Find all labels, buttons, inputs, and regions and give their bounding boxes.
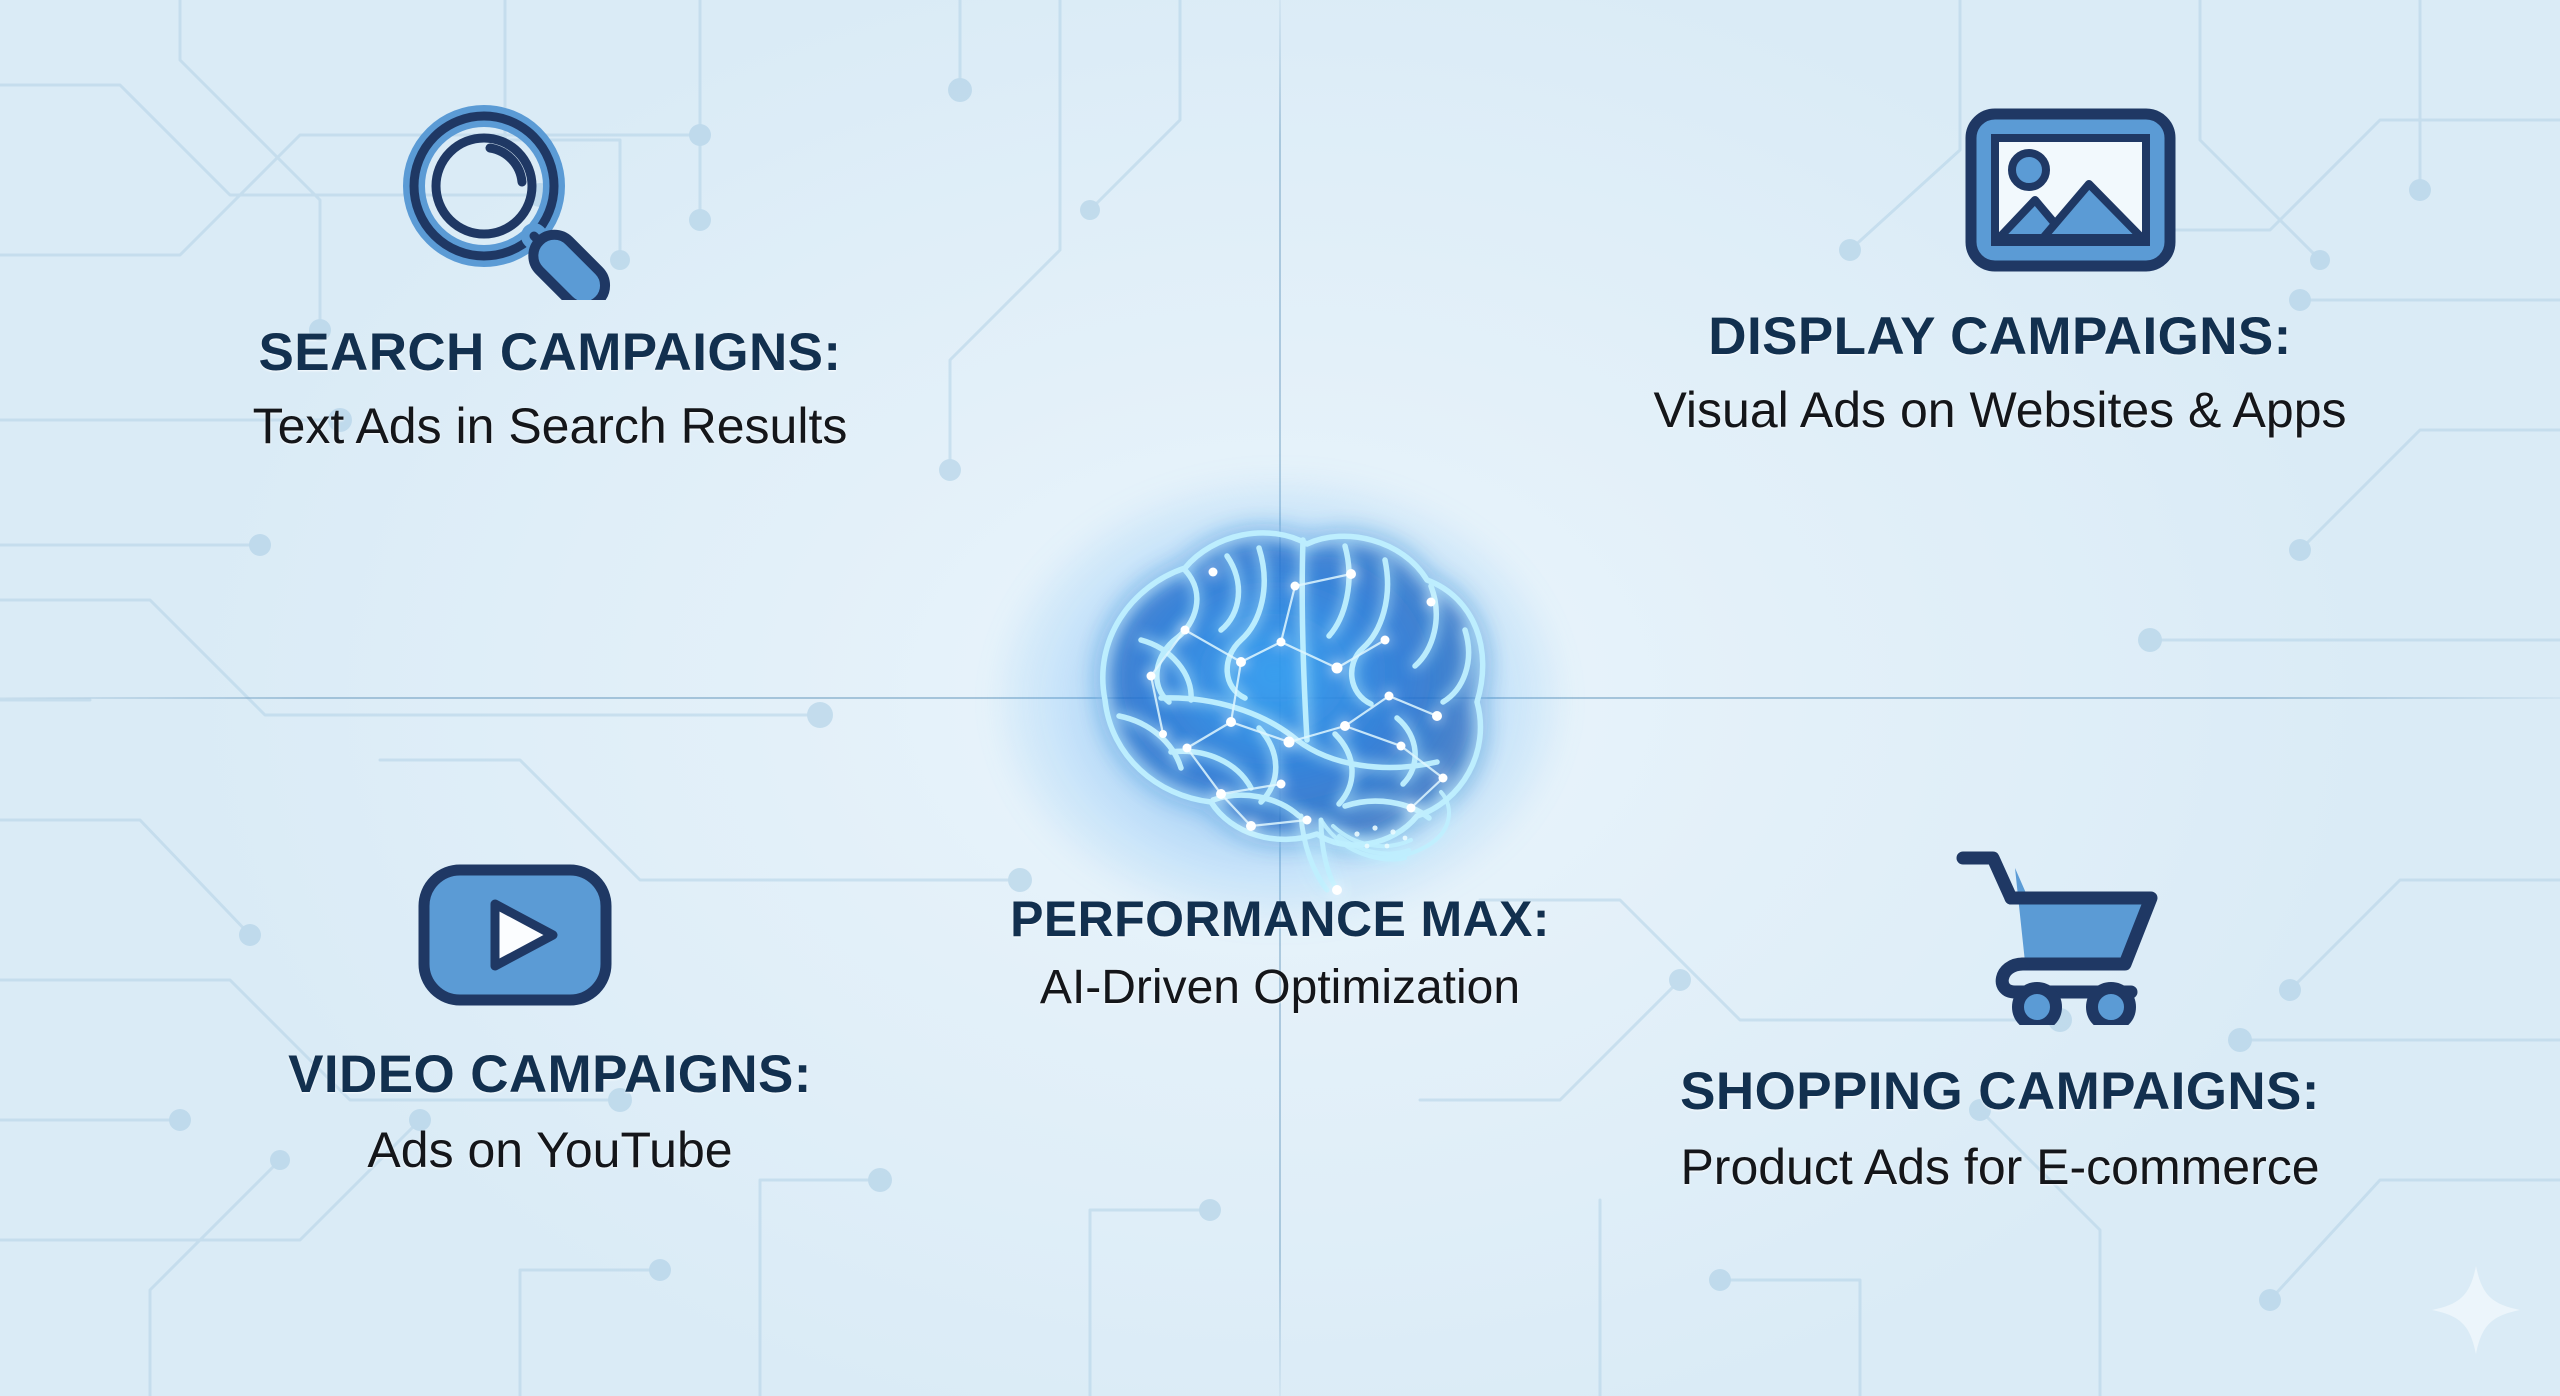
infographic-canvas: SEARCH CAMPAIGNS: Text Ads in Search Res… xyxy=(0,0,2560,1396)
quadrant-shopping: SHOPPING CAMPAIGNS: Product Ads for E-co… xyxy=(1440,840,2560,1196)
play-button-icon xyxy=(415,860,615,1010)
search-heading: SEARCH CAMPAIGNS: xyxy=(259,322,842,383)
video-icon-box xyxy=(415,860,615,1010)
video-subtitle: Ads on YouTube xyxy=(367,1121,732,1179)
search-subtitle: Text Ads in Search Results xyxy=(253,397,848,455)
display-subtitle: Visual Ads on Websites & Apps xyxy=(1653,381,2346,439)
quadrant-display: DISPLAY CAMPAIGNS: Visual Ads on Website… xyxy=(1440,100,2560,439)
shopping-icon-box xyxy=(1953,840,2168,1025)
shopping-cart-icon xyxy=(1953,840,2168,1025)
magnifying-glass-icon xyxy=(390,100,620,300)
quadrant-search: SEARCH CAMPAIGNS: Text Ads in Search Res… xyxy=(0,100,1100,455)
video-heading: VIDEO CAMPAIGNS: xyxy=(288,1044,812,1105)
quadrant-video: VIDEO CAMPAIGNS: Ads on YouTube xyxy=(0,860,1100,1179)
shopping-heading: SHOPPING CAMPAIGNS: xyxy=(1680,1061,2320,1122)
sparkle-star-icon xyxy=(2428,1262,2524,1358)
shopping-subtitle: Product Ads for E-commerce xyxy=(1680,1138,2319,1196)
display-icon-box xyxy=(1963,100,2178,280)
search-icon-box xyxy=(390,100,620,300)
display-heading: DISPLAY CAMPAIGNS: xyxy=(1708,306,2291,367)
image-picture-icon xyxy=(1963,100,2178,280)
